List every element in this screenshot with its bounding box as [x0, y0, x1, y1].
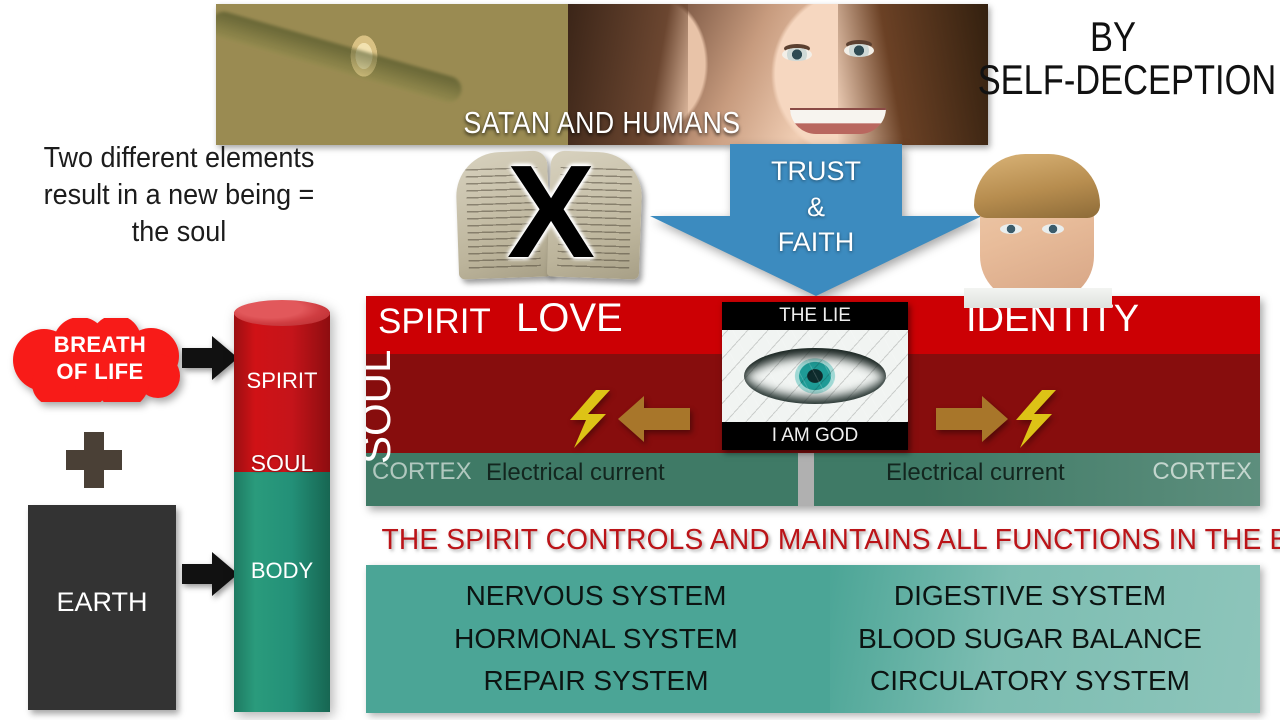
faith-line: FAITH: [650, 225, 982, 261]
cylinder-body-label: BODY: [234, 558, 330, 584]
self-deception-line2: SELF-DECEPTION: [978, 59, 1249, 102]
cylinder-top-cap: [234, 300, 330, 326]
body-systems-panel: NERVOUS SYSTEM HORMONAL SYSTEM REPAIR SY…: [366, 565, 1260, 713]
electrical-current-right: Electrical current: [886, 459, 1065, 487]
systems-column-right: DIGESTIVE SYSTEM BLOOD SUGAR BALANCE CIR…: [810, 575, 1250, 703]
spirit-soul-body-cylinder: SPIRIT SOUL BODY: [234, 300, 330, 712]
self-deception-title: BY SELF-DECEPTION: [948, 16, 1278, 102]
stone-tablets-icon: X: [457, 152, 647, 280]
eye-right-icon: [844, 44, 874, 57]
cloud-line2: OF LIFE: [10, 359, 190, 386]
cortex-label-right: CORTEX: [1152, 458, 1252, 486]
list-item: DIGESTIVE SYSTEM: [810, 575, 1250, 618]
lightning-bolt-right-icon: [1012, 390, 1056, 448]
list-item: REPAIR SYSTEM: [376, 660, 816, 703]
list-item: CIRCULATORY SYSTEM: [810, 660, 1250, 703]
earth-label: EARTH: [28, 587, 176, 618]
spirit-label: SPIRIT: [378, 302, 491, 342]
banner-caption: SATAN AND HUMANS: [270, 105, 934, 141]
gold-arrow-right-icon: [936, 396, 1008, 442]
man-portrait: [962, 150, 1114, 302]
spirit-controls-headline: THE SPIRIT CONTROLS AND MAINTAINS ALL FU…: [381, 524, 1250, 557]
the-lie-caption: THE LIE: [722, 302, 908, 330]
eye-left-icon: [782, 48, 812, 61]
systems-column-left: NERVOUS SYSTEM HORMONAL SYSTEM REPAIR SY…: [376, 575, 816, 703]
electrical-current-left: Electrical current: [486, 459, 665, 487]
cylinder-soul-label: SOUL: [234, 450, 330, 477]
list-item: BLOOD SUGAR BALANCE: [810, 618, 1250, 661]
eye-right-icon: [1042, 224, 1064, 234]
breath-of-life-label: BREATH OF LIFE: [10, 332, 190, 386]
the-lie-card: THE LIE I AM GOD: [722, 302, 908, 450]
trust-faith-arrow: TRUST & FAITH: [650, 144, 982, 296]
cross-out-x-icon: X: [487, 158, 615, 276]
list-item: NERVOUS SYSTEM: [376, 575, 816, 618]
trust-line: TRUST: [650, 154, 982, 190]
gold-arrow-left-icon: [618, 396, 690, 442]
lightning-bolt-left-icon: [566, 390, 610, 448]
breath-of-life-cloud: BREATH OF LIFE: [10, 318, 190, 402]
black-arrow-breath-icon: [182, 336, 238, 380]
cortex-label-left: CORTEX: [372, 458, 472, 486]
plus-symbol-icon: [66, 432, 122, 488]
self-deception-line1: BY: [978, 16, 1249, 59]
love-label: LOVE: [516, 296, 623, 341]
cylinder-spirit-label: SPIRIT: [234, 368, 330, 394]
eye-left-icon: [1000, 224, 1022, 234]
i-am-god-caption: I AM GOD: [722, 422, 908, 450]
shirt-shape: [964, 288, 1112, 308]
cylinder-body-section: [234, 472, 330, 712]
intro-paragraph: Two different elements result in a new b…: [26, 140, 333, 251]
hair-shape: [974, 154, 1100, 218]
earth-box: EARTH: [28, 505, 176, 710]
spine-divider: [798, 453, 814, 506]
cloud-line1: BREATH: [10, 332, 190, 359]
slide-canvas: SATAN AND HUMANS BY SELF-DECEPTION Two d…: [0, 0, 1280, 720]
ampersand-line: &: [650, 190, 982, 226]
top-photo-banner: SATAN AND HUMANS: [216, 4, 988, 145]
list-item: HORMONAL SYSTEM: [376, 618, 816, 661]
plus-bar-vertical: [84, 432, 104, 488]
black-arrow-earth-icon: [182, 552, 238, 596]
mosaic-eye-image: [722, 330, 908, 422]
soul-label: SOUL: [366, 350, 400, 464]
soul-label-wrapper: SOUL: [400, 356, 444, 464]
trust-faith-label: TRUST & FAITH: [650, 154, 982, 261]
